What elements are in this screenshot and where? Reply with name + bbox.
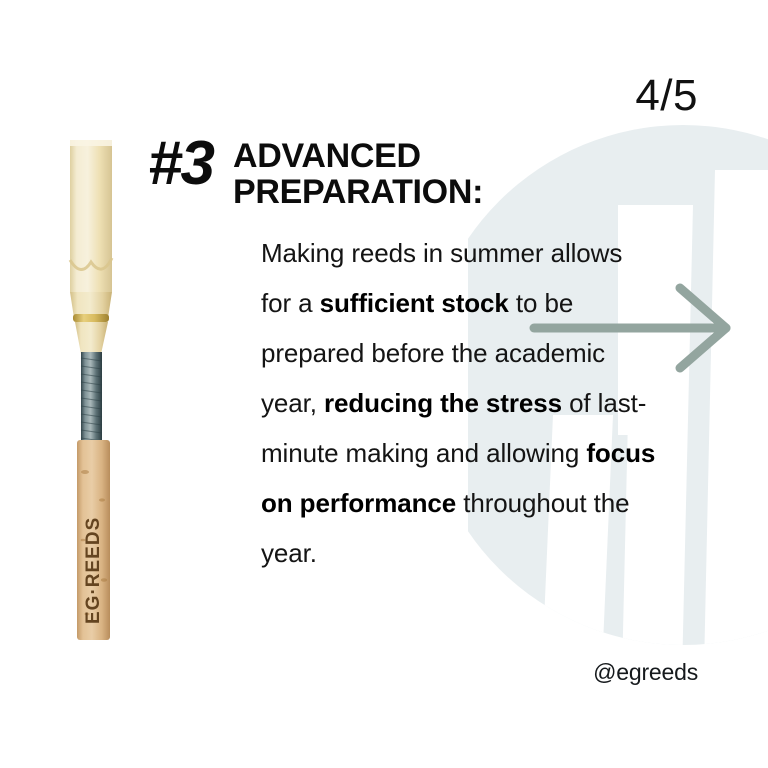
body-emphasis: reducing the stress	[324, 388, 562, 418]
page-title: ADVANCED PREPARATION:	[233, 134, 578, 211]
body-copy: Making reeds in summer allows for a suff…	[261, 228, 657, 578]
page-counter: 4/5	[635, 74, 698, 118]
carousel-slide: 4/5	[0, 0, 768, 768]
social-handle: @egreeds	[593, 661, 698, 684]
rank-number: #3	[148, 134, 213, 195]
headline: #3 ADVANCED PREPARATION:	[148, 134, 578, 211]
reed-brand-stamp: EG·REEDS	[83, 517, 104, 624]
body-emphasis: sufficient stock	[320, 288, 509, 318]
